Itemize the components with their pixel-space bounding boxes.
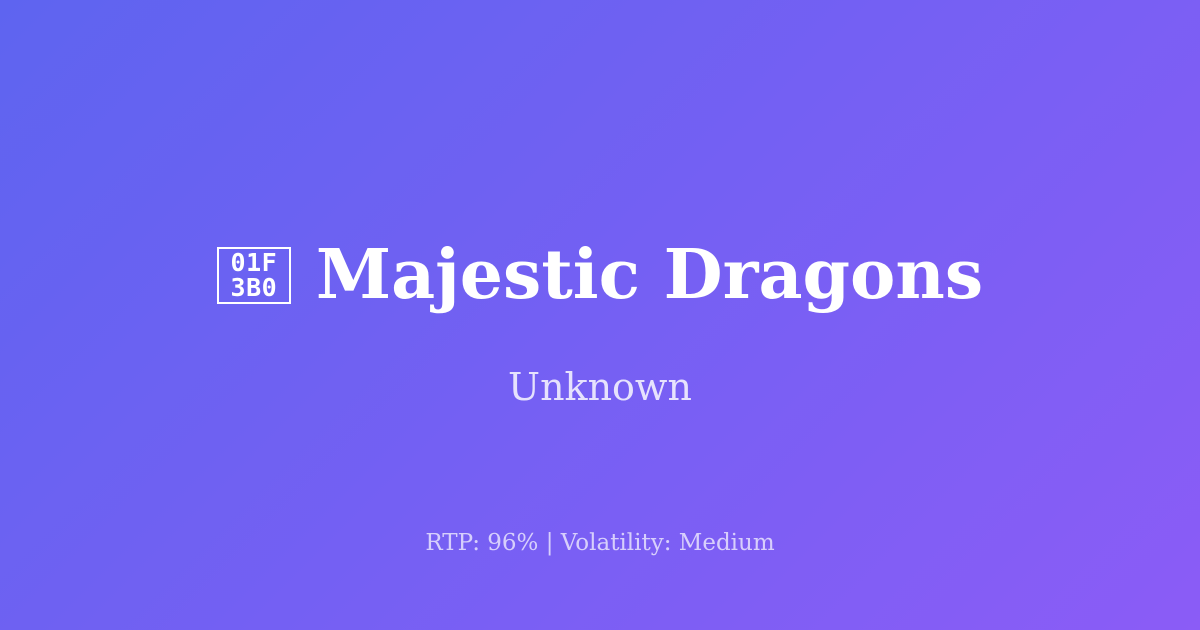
game-provider: Unknown <box>0 365 1200 409</box>
tofu-codepoint-high: 01F <box>231 250 278 275</box>
slot-machine-icon: 01F 3B0 <box>217 247 291 304</box>
game-promo-card: 01F 3B0 Majestic Dragons Unknown RTP: 96… <box>0 0 1200 630</box>
title-block: 01F 3B0 Majestic Dragons <box>0 0 1200 550</box>
game-stats: RTP: 96% | Volatility: Medium <box>0 529 1200 557</box>
tofu-codepoint-low: 3B0 <box>231 275 278 300</box>
game-title-text: Majestic Dragons <box>316 241 983 309</box>
game-title: 01F 3B0 Majestic Dragons <box>217 241 983 309</box>
